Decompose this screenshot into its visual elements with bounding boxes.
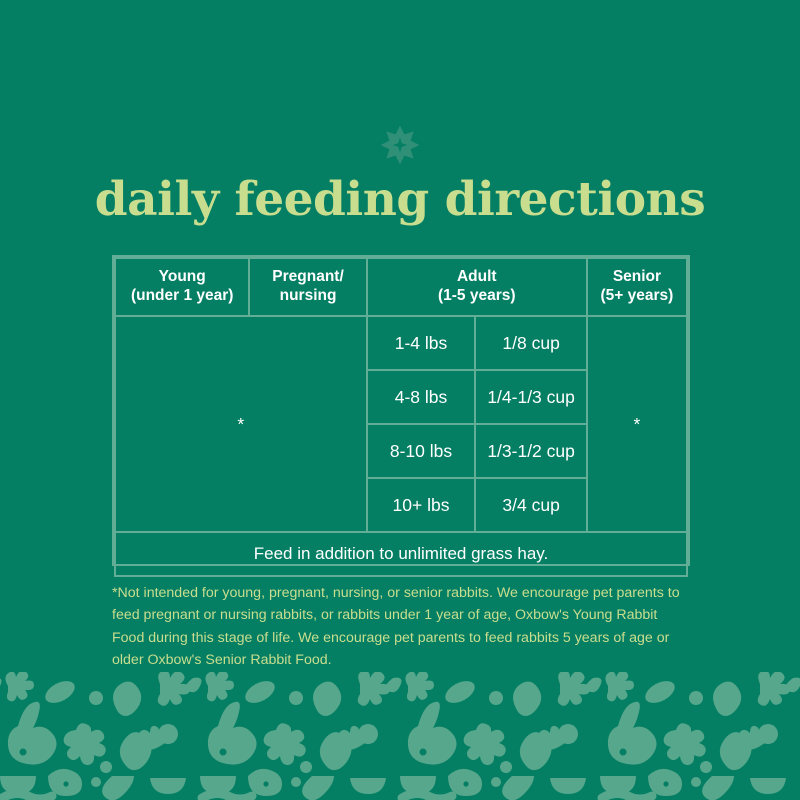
cell-senior-asterisk: * [587,316,687,532]
cell-adult-amount: 1/4-1/3 cup [475,370,587,424]
column-header-pregnant-nursing: Pregnant/ nursing [249,258,366,316]
cell-adult-amount: 3/4 cup [475,478,587,532]
arched-eyebrow-text: ADULT RABBIT FOOD [0,0,800,200]
cell-adult-weight: 1-4 lbs [367,316,476,370]
table-footer-note: Feed in addition to unlimited grass hay. [115,532,687,576]
cell-young-pregnant-asterisk: * [115,316,367,532]
feeding-table: Young (under 1 year) Pregnant/ nursing A… [112,255,690,566]
column-header-young-line1: Young [118,268,246,287]
column-header-adult-line2: (1-5 years) [370,287,584,306]
cell-adult-amount: 1/8 cup [475,316,587,370]
column-header-senior-line1: Senior [590,268,684,287]
column-header-pregnant-line2: nursing [252,287,363,306]
column-header-senior-line2: (5+ years) [590,287,684,306]
column-header-young: Young (under 1 year) [115,258,249,316]
column-header-pregnant-line1: Pregnant/ [252,268,363,287]
page-title: daily feeding directions [0,174,800,226]
botanical-pattern-band [0,672,800,800]
column-header-adult: Adult (1-5 years) [367,258,587,316]
table-row: * 1-4 lbs 1/8 cup * [115,316,687,370]
column-header-senior: Senior (5+ years) [587,258,687,316]
column-header-adult-line1: Adult [370,268,584,287]
cell-adult-weight: 10+ lbs [367,478,476,532]
table-footer-row: Feed in addition to unlimited grass hay. [115,532,687,576]
cell-adult-weight: 8-10 lbs [367,424,476,478]
feeding-directions-poster: ADULT RABBIT FOOD dail [0,0,800,800]
rosette-ornament-icon [377,122,423,168]
footnote-text: *Not intended for young, pregnant, nursi… [112,582,692,672]
cell-adult-weight: 4-8 lbs [367,370,476,424]
column-header-young-line2: (under 1 year) [118,287,246,306]
cell-adult-amount: 1/3-1/2 cup [475,424,587,478]
table-header-row: Young (under 1 year) Pregnant/ nursing A… [115,258,687,316]
